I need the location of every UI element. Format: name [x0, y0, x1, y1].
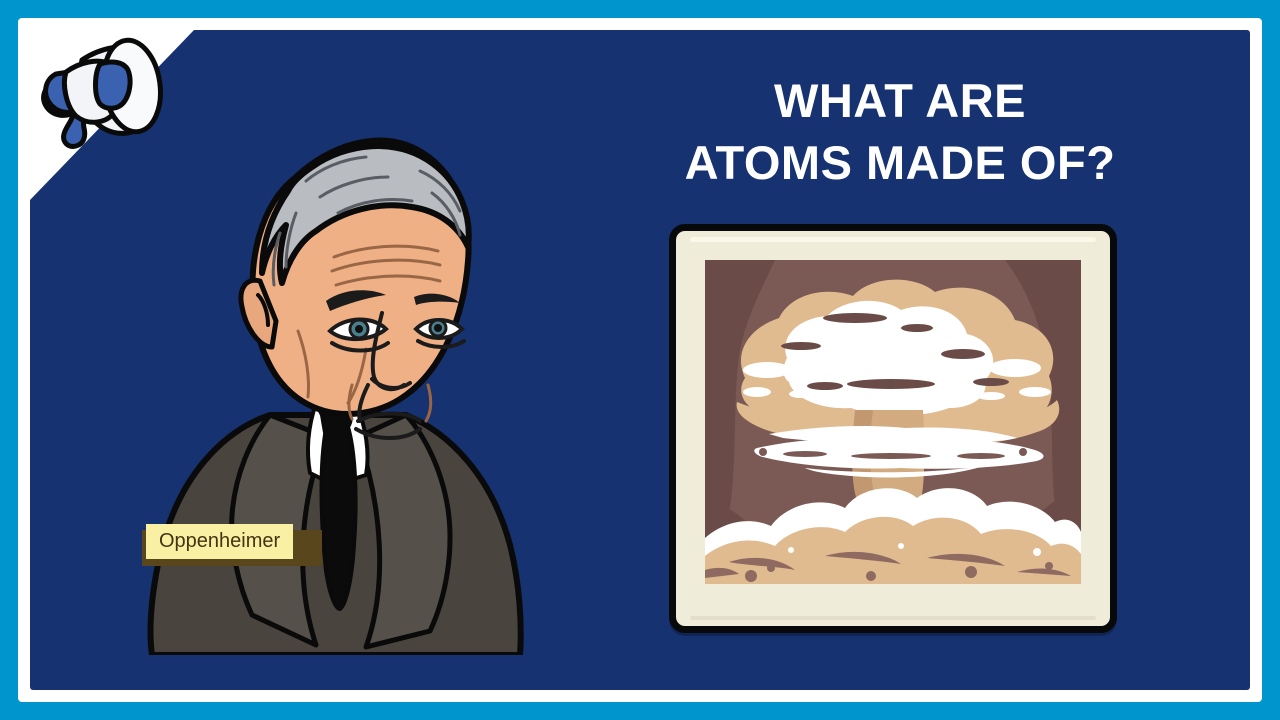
mushroom-cloud-photo-frame	[669, 224, 1117, 633]
slide-content-panel: WHAT ARE ATOMS MADE OF?	[30, 30, 1250, 690]
name-label-text: Oppenheimer	[146, 524, 293, 559]
page-title: WHAT ARE ATOMS MADE OF?	[640, 70, 1160, 194]
megaphone-icon	[22, 18, 172, 158]
frame-gloss-top	[690, 237, 1096, 242]
name-label: Oppenheimer	[146, 524, 293, 559]
title-line-2: ATOMS MADE OF?	[640, 132, 1160, 194]
oppenheimer-portrait	[120, 85, 550, 655]
slide: WHAT ARE ATOMS MADE OF?	[0, 0, 1280, 720]
title-line-1: WHAT ARE	[640, 70, 1160, 132]
mushroom-cloud-image	[705, 260, 1081, 584]
frame-gloss-bottom	[690, 616, 1096, 620]
